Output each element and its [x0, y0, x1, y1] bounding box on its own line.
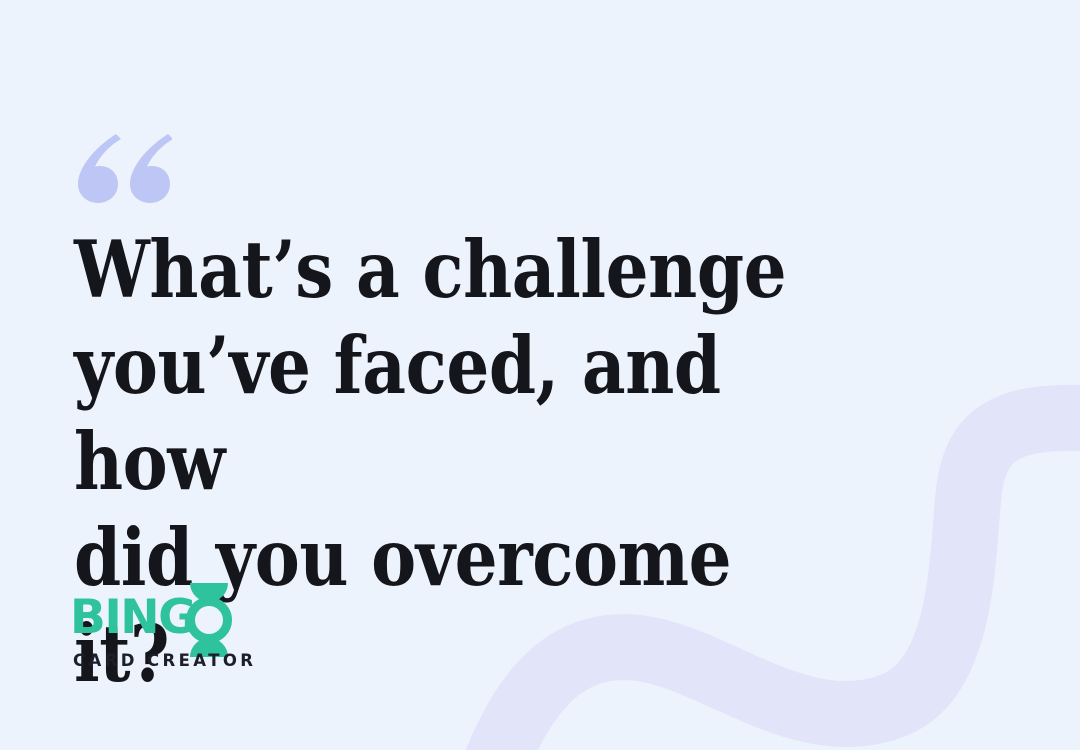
bingo-o-mark-icon: [183, 581, 235, 659]
logo-tagline: CARD CREATOR: [73, 651, 256, 671]
logo-wordmark-letters: BING: [70, 594, 195, 641]
brand-logo[interactable]: BING CARD CREATOR: [70, 594, 300, 676]
quote-card: What’s a challenge you’ve faced, and how…: [0, 0, 1080, 750]
logo-wordmark: BING: [70, 594, 230, 646]
quote-mark-icon: [76, 132, 172, 204]
